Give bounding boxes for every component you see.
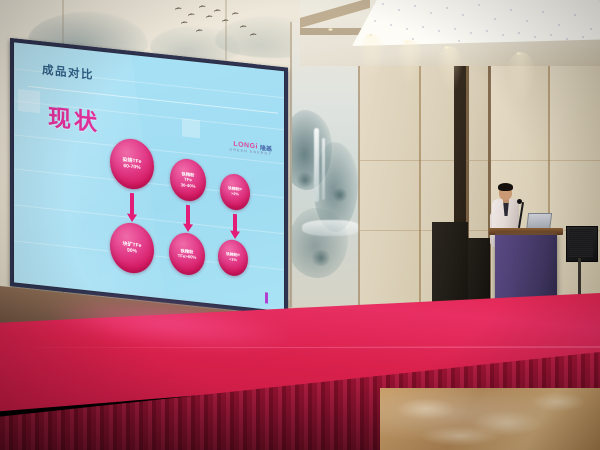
- bird-icon: [250, 34, 255, 39]
- bird-icon: [222, 20, 227, 25]
- bubble-line: 90%: [127, 248, 137, 255]
- bird-icon: [199, 6, 204, 11]
- presenter-hair: [498, 183, 513, 191]
- starlight-ceiling-panel: [352, 0, 600, 46]
- bird-icon: [240, 26, 245, 31]
- bird-icon: [206, 16, 211, 21]
- down-arrow-icon: [186, 205, 190, 225]
- bubble-line: >2%: [231, 192, 239, 198]
- bubble-line: 30-40%: [181, 182, 196, 189]
- projection-screen: 成品对比 现状 LONGi 隆基 GREEN ENERGY 染铬TFe 60-7…: [10, 38, 288, 316]
- slide-canvas: 成品对比 现状 LONGi 隆基 GREEN ENERGY 染铬TFe 60-7…: [14, 42, 284, 311]
- wall-panel: [550, 66, 600, 318]
- pa-speaker-grill: [569, 229, 593, 257]
- down-arrow-icon: [130, 193, 134, 215]
- bubble-bottom-2: 铁精粉 TFe>60%: [169, 231, 205, 277]
- hotel-carpet: [380, 388, 600, 450]
- bird-icon: [188, 14, 193, 19]
- slide-heading: 现状: [48, 98, 100, 138]
- bubble-line: <1%: [229, 257, 237, 263]
- microphone-icon: [517, 199, 522, 204]
- bubble-bottom-3: 铁精粉P <1%: [218, 238, 248, 277]
- bird-icon: [175, 8, 180, 13]
- bubble-line: TFe>60%: [178, 253, 197, 260]
- bird-icon: [232, 13, 237, 18]
- bubble-top-2: 铁精粉 TFe 30-40%: [170, 157, 206, 203]
- bird-icon: [181, 22, 186, 27]
- bubble-line: 60-70%: [123, 163, 140, 171]
- bird-icon: [214, 10, 219, 15]
- down-arrow-icon: [233, 214, 237, 232]
- slide-corner-marker: [265, 292, 268, 303]
- downlight: [328, 28, 333, 31]
- conference-room-photo: 成品对比 现状 LONGi 隆基 GREEN ENERGY 染铬TFe 60-7…: [0, 0, 600, 450]
- bird-icon: [196, 30, 201, 35]
- bubble-top-3: 铁精粉P >2%: [220, 172, 250, 211]
